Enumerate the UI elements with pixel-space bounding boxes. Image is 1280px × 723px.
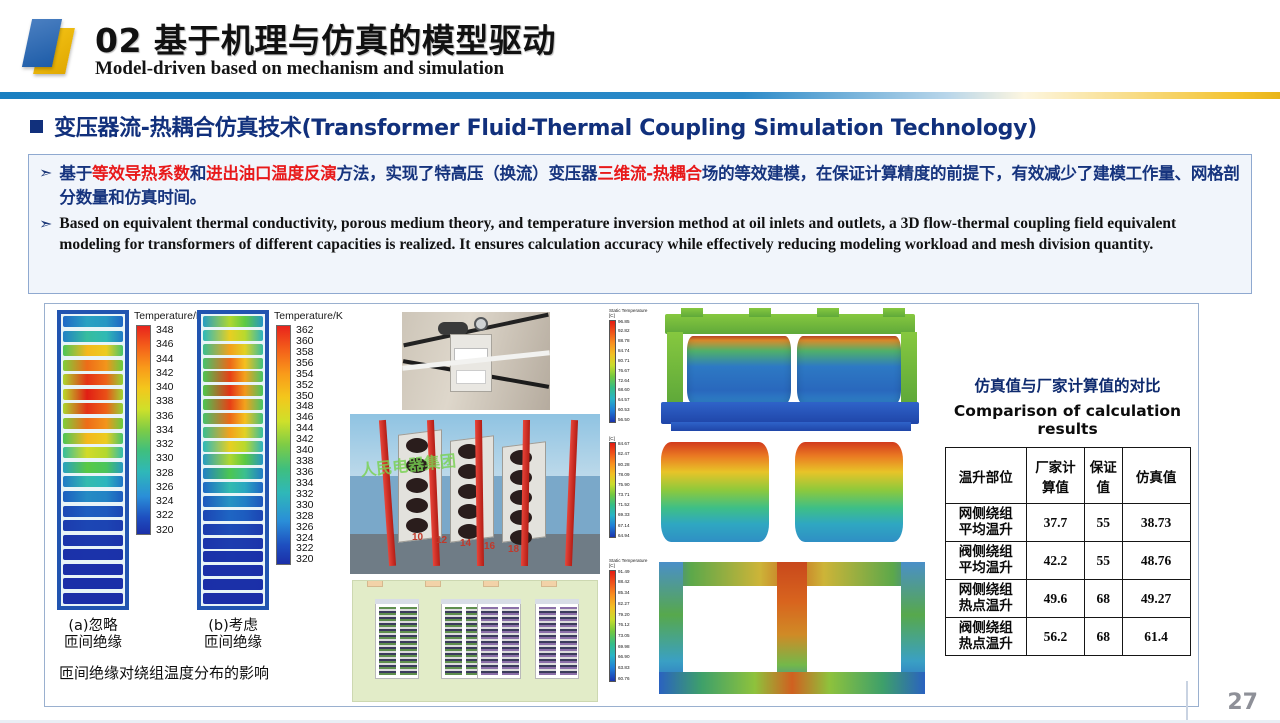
colorbar-b-gradient [276,325,291,565]
bay-rack [502,607,519,675]
winding-disc [203,441,263,452]
col-header-guarantee: 保证值 [1084,448,1122,504]
bay-rack [379,607,396,675]
winding-disc [63,564,123,575]
cfd-model-core [659,562,925,694]
comparison-table: 温升部位 厂家计算值 保证值 仿真值 网侧绕组平均温升37.75538.73阀侧… [945,447,1191,656]
cfd-colorbar-2-tick: 82.47 [618,452,630,457]
colorbar-a-tick: 320 [156,525,174,536]
cfd-colorbar-3-tick: 85.34 [618,591,630,596]
cell-guarantee-value: 55 [1084,504,1122,542]
winding-disc [63,389,123,400]
winding-disc [203,524,263,535]
colorbar-b-tick: 326 [296,522,314,533]
cfd-colorbar-2-body: 84.6782.4780.2878.0975.9073.7171.5269.33… [609,442,657,538]
winding-figure-a: Temperature/K 34834634434234033833633433… [57,310,129,610]
cfd-colorbar-3: Static Temperature [C] 91.4988.4285.3482… [609,558,657,682]
winding-disc [63,520,123,531]
winding-figure-b: Temperature/K 36236035835635435235034834… [197,310,269,610]
colorbar-b-tick: 344 [296,423,314,434]
cell-part-line2: 平均温升 [948,561,1025,577]
core-clamp-4 [883,308,905,317]
section-heading: 变压器流-热耦合仿真技术(Transformer Fluid-Thermal C… [30,110,1037,142]
winding-figure-pair: Temperature/K 34834634434234033833633433… [57,310,269,610]
measurement-point-label: 16 [484,541,495,552]
cfd-colorbar-1-tick: 84.74 [618,349,630,354]
colorbar-b-tick: 362 [296,325,314,336]
figure-a-caption: (a)忽略 匝间绝缘 [13,618,173,653]
core-yoke-top [665,314,915,334]
colorbar-b-tick: 354 [296,369,314,380]
cell-simulation-value: 49.27 [1122,580,1190,618]
colorbar-a-tick: 324 [156,496,174,507]
page-subtitle: Model-driven based on mechanism and simu… [95,58,504,80]
colorbar-a-tick: 328 [156,468,174,479]
colorbar-b-tick: 330 [296,500,314,511]
comparison-title-en: Comparison of calculation results [940,402,1195,438]
table-header-row: 温升部位 厂家计算值 保证值 仿真值 [945,448,1190,504]
winding-thermal-figures: Temperature/K 34834634434234033833633433… [57,310,357,700]
colorbar-b-tick: 352 [296,380,314,391]
cell-guarantee-value: 68 [1084,580,1122,618]
cell-part-line2: 平均温升 [948,523,1025,539]
winding-disc [63,578,123,589]
winding-disc [203,468,263,479]
cfd-colorbar-3-unit: [C] [609,563,657,568]
cfd-sim-core-frame: Static Temperature [C] 91.4988.4285.3482… [605,556,930,702]
cfd-colorbar-1-tick: 64.57 [618,398,630,403]
figure-b-caption-line2: 匝间绝缘 [153,635,313,652]
cell-part: 阀侧绕组平均温升 [945,542,1027,580]
bay-rack [560,607,577,675]
colorbar-a-tick: 322 [156,510,174,521]
bay-roof-tab [367,580,383,587]
winding-disc [203,454,263,465]
winding-contour-b [197,310,269,610]
winding-disc [63,549,123,560]
cfd-sim-assembly: Static Temperature [C] 96.8592.8288.7884… [605,306,930,436]
figure-b-caption-line1: (b)考虑 [153,618,313,635]
cell-part-line1: 网侧绕组 [948,507,1025,523]
winding-disc [203,399,263,410]
bay-rack [445,607,462,675]
bay-cap [535,599,579,604]
measurement-point-label: 12 [436,535,447,546]
winding-disc [203,385,263,396]
bay-rack [539,607,556,675]
winding-disc [203,496,263,507]
winding-disc [203,316,263,327]
radiator-fan-icon [406,518,428,533]
cell-simulation-value: 38.73 [1122,504,1190,542]
colorbar-a-ticks: 3483463443423403383363343323303283263243… [151,325,174,535]
colorbar-a-tick: 338 [156,396,174,407]
cfd-colorbar-3-tick: 91.49 [618,570,630,575]
table-row: 阀侧绕组热点温升56.26861.4 [945,618,1190,656]
photo-sensor-subplate [456,370,486,384]
photo-radiator-bank: 1012141618 人民电器集团 [350,414,600,574]
colorbar-b-tick: 350 [296,391,314,402]
winding-disc [203,565,263,576]
cn-seg-3: 方法，实现了特高压（换流）变压器 [337,164,598,183]
cfd-winding-right [795,442,903,542]
colorbar-a-tick: 334 [156,425,174,436]
photo-wireless-sensor [402,312,550,410]
bay-cap [375,599,419,604]
cfd-colorbar-1-unit: [C] [609,313,657,318]
col-header-part: 温升部位 [945,448,1027,504]
description-row-cn: ➣ 基于等效导热系数和进出油口温度反演方法，实现了特高压（换流）变压器三维流-热… [29,155,1251,211]
comparison-title-cn: 仿真值与厂家计算值的对比 [940,374,1195,396]
cfd-colorbar-3-tick: 63.83 [618,666,630,671]
cfd-colorbar-2-tick: 84.67 [618,442,630,447]
cell-part-line2: 热点温升 [948,599,1025,615]
cfd-model-transformer [657,310,925,432]
photo-column: 1012141618 人民电器集团 [350,308,600,704]
coil-left [687,336,791,404]
cfd-colorbar-2-tick: 78.09 [618,473,630,478]
cfd-colorbar-3-tick: 69.98 [618,645,630,650]
core-base-frame [661,402,919,424]
header-divider [0,92,1280,99]
page-number: 27 [1227,690,1258,715]
core-clamp-1 [681,308,703,317]
footer-divider [1186,681,1188,721]
cn-seg-1: 基于 [59,164,92,183]
cell-part-line2: 热点温升 [948,637,1025,653]
colorbar-b-tick: 346 [296,412,314,423]
measurement-point-label: 14 [460,538,471,549]
photo-sensor-knob-icon [474,317,488,331]
table-body: 网侧绕组平均温升37.75538.73阀侧绕组平均温升42.25548.76网侧… [945,504,1190,656]
colorbar-a-tick: 342 [156,368,174,379]
arrow-bullet-icon-2: ➣ [39,213,52,236]
colorbar-b-tick: 340 [296,445,314,456]
cn-seg-2: 和 [190,164,206,183]
winding-disc [203,330,263,341]
cfd-colorbar-2-tick: 71.52 [618,503,630,508]
core-clamp-3 [817,308,839,317]
cfd-colorbar-1-tick: 96.85 [618,320,630,325]
colorbar-b-ticks: 3623603583563543523503483463443423403383… [291,325,314,565]
winding-disc [63,506,123,517]
diagram-substation-layout [352,580,598,702]
colorbar-b-tick: 328 [296,511,314,522]
colorbar-b-tick: 320 [296,554,314,565]
cfd-colorbar-1-tick: 92.82 [618,329,630,334]
winding-disc [203,371,263,382]
cell-manufacturer-value: 42.2 [1027,542,1085,580]
cfd-colorbar-2-gradient [609,442,616,538]
cfd-colorbar-2-tick: 80.28 [618,463,630,468]
cfd-colorbar-2-tick: 64.94 [618,534,630,539]
winding-disc [63,462,123,473]
cell-part-line1: 网侧绕组 [948,583,1025,599]
cfd-colorbar-1-tick: 88.78 [618,339,630,344]
figures-footer-caption: 匝间绝缘对绕组温度分布的影响 [59,662,359,683]
colorbar-b-tick: 342 [296,434,314,445]
colorbar-b-tick: 336 [296,467,314,478]
cn-highlight-1: 等效导热系数 [92,164,190,183]
cfd-colorbar-1-ticks: 96.8592.8288.7884.7480.7176.6772.6468.60… [616,320,630,423]
winding-disc [63,403,123,414]
winding-disc [63,433,123,444]
colorbar-b-tick: 322 [296,543,314,554]
colorbar-b-tick: 332 [296,489,314,500]
colorbar-b-tick: 338 [296,456,314,467]
cfd-colorbar-1-tick: 76.67 [618,369,630,374]
cfd-colorbar-1-tick: 80.71 [618,359,630,364]
cfd-colorbar-3-tick: 82.27 [618,602,630,607]
cfd-colorbar-1: Static Temperature [C] 96.8592.8288.7884… [609,308,657,423]
content-panel: Temperature/K 34834634434234033833633433… [44,303,1199,707]
winding-contour-a [57,310,129,610]
cfd-colorbar-2-tick: 75.90 [618,483,630,488]
col-header-manufacturer: 厂家计算值 [1027,448,1085,504]
colorbar-a-tick: 326 [156,482,174,493]
colorbar-b-tick: 360 [296,336,314,347]
cfd-colorbar-1-tick: 68.60 [618,388,630,393]
cfd-colorbar-3-tick: 88.42 [618,580,630,585]
company-logo-icon [22,16,88,76]
cn-highlight-2: 进出油口温度反演 [206,164,336,183]
description-en-text: Based on equivalent thermal conductivity… [59,213,1241,256]
winding-disc [203,344,263,355]
cell-part: 网侧绕组热点温升 [945,580,1027,618]
winding-disc [203,358,263,369]
cfd-colorbar-1-gradient [609,320,616,423]
cfd-colorbar-2-tick: 73.71 [618,493,630,498]
colorbar-a-tick: 336 [156,411,174,422]
colorbar-b-tick: 358 [296,347,314,358]
bay-rack [481,607,498,675]
cell-part-line1: 阀侧绕组 [948,545,1025,561]
description-box: ➣ 基于等效导热系数和进出油口温度反演方法，实现了特高压（换流）变压器三维流-热… [28,154,1252,294]
core-base-plinth [671,422,911,431]
cell-manufacturer-value: 49.6 [1027,580,1085,618]
winding-disc [63,345,123,356]
cfd-colorbar-1-tick: 56.50 [618,418,630,423]
description-cn-text: 基于等效导热系数和进出油口温度反演方法，实现了特高压（换流）变压器三维流-热耦合… [59,162,1241,211]
winding-disc [203,551,263,562]
cfd-colorbar-2-tick: 67.14 [618,524,630,529]
cn-highlight-3: 三维流-热耦合 [597,164,701,183]
colorbar-a-tick: 346 [156,339,174,350]
cfd-colorbar-3-ticks: 91.4988.4285.3482.2779.2076.1273.0569.98… [616,570,630,682]
radiator-fan-icon [406,498,428,513]
cfd-colorbar-3-tick: 60.76 [618,677,630,682]
winding-disc [63,447,123,458]
measurement-point-label: 18 [508,544,519,555]
table-row: 网侧绕组热点温升49.66849.27 [945,580,1190,618]
cell-guarantee-value: 68 [1084,618,1122,656]
bullet-square-icon [30,120,43,133]
winding-disc [203,413,263,424]
coil-right [797,336,901,404]
cfd-colorbar-3-gradient [609,570,616,682]
winding-disc [63,331,123,342]
bay-rack [400,607,417,675]
section-heading-label: 变压器流-热耦合仿真技术(Transformer Fluid-Thermal C… [54,110,1037,142]
cell-simulation-value: 48.76 [1122,542,1190,580]
cfd-colorbar-1-tick: 60.53 [618,408,630,413]
measurement-point-label: 10 [412,532,423,543]
cfd-colorbar-3-tick: 76.12 [618,623,630,628]
cfd-colorbar-2-unit: [C] [609,436,657,441]
cell-part: 阀侧绕组热点温升 [945,618,1027,656]
cell-part-line1: 阀侧绕组 [948,621,1025,637]
colorbar-a-tick: 330 [156,453,174,464]
winding-disc [63,476,123,487]
cfd-colorbar-2: [C] 84.6782.4780.2878.0975.9073.7171.526… [609,436,657,538]
radiator-fan-icon [406,478,428,493]
cfd-winding-left [661,442,769,542]
colorbar-a-tick: 332 [156,439,174,450]
cell-simulation-value: 61.4 [1122,618,1190,656]
colorbar-b-tick: 324 [296,533,314,544]
winding-disc [63,535,123,546]
table-row: 网侧绕组平均温升37.75538.73 [945,504,1190,542]
cfd-colorbar-3-tick: 79.20 [618,613,630,618]
winding-disc [203,593,263,604]
colorbar-a-tick: 348 [156,325,174,336]
colorbar-b-tick: 334 [296,478,314,489]
winding-disc [63,316,123,327]
slide-header: 02 基于机理与仿真的模型驱动 Model-driven based on me… [0,0,1280,92]
core-clamp-2 [749,308,771,317]
table-row: 阀侧绕组平均温升42.25548.76 [945,542,1190,580]
cell-part: 网侧绕组平均温升 [945,504,1027,542]
winding-disc [203,510,263,521]
colorbar-a-gradient [136,325,151,535]
cfd-sim-windings: [C] 84.6782.4780.2878.0975.9073.7171.526… [605,434,930,558]
bay-roof-tab [483,580,499,587]
col-header-simulation: 仿真值 [1122,448,1190,504]
core-bottom-yoke [659,672,925,694]
cfd-colorbar-1-tick: 72.64 [618,379,630,384]
winding-disc [63,374,123,385]
bay-roof-tab [541,580,557,587]
winding-disc [203,579,263,590]
page-title: 02 基于机理与仿真的模型驱动 [95,14,556,62]
cfd-colorbar-2-tick: 69.33 [618,513,630,518]
winding-disc [203,427,263,438]
core-limb-left [667,332,683,402]
bay-cap [477,599,521,604]
figure-b-caption: (b)考虑 匝间绝缘 [153,618,313,653]
winding-disc [63,491,123,502]
winding-disc [63,360,123,371]
cell-manufacturer-value: 37.7 [1027,504,1085,542]
winding-disc [63,593,123,604]
cell-manufacturer-value: 56.2 [1027,618,1085,656]
winding-disc [63,418,123,429]
cfd-colorbar-3-body: 91.4988.4285.3482.2779.2076.1273.0569.98… [609,570,657,682]
figure-a-caption-line1: (a)忽略 [13,618,173,635]
cfd-colorbar-3-tick: 66.90 [618,655,630,660]
cfd-colorbar-1-body: 96.8592.8288.7884.7480.7176.6772.6468.60… [609,320,657,423]
cell-guarantee-value: 55 [1084,542,1122,580]
slide-root: 02 基于机理与仿真的模型驱动 Model-driven based on me… [0,0,1280,723]
figure-a-caption-line2: 匝间绝缘 [13,635,173,652]
bay-roof-tab [425,580,441,587]
header-divider-thin [0,99,1280,101]
colorbar-a-tick: 340 [156,382,174,393]
colorbar-a-tick: 344 [156,354,174,365]
cfd-simulation-column: Static Temperature [C] 96.8592.8288.7884… [605,306,930,704]
colorbar-b-tick: 348 [296,401,314,412]
cfd-colorbar-3-tick: 73.05 [618,634,630,639]
colorbar-b-tick: 356 [296,358,314,369]
winding-disc [203,538,263,549]
description-row-en: ➣ Based on equivalent thermal conductivi… [29,211,1251,256]
comparison-table-block: 仿真值与厂家计算值的对比 Comparison of calculation r… [940,308,1195,700]
cfd-colorbar-2-ticks: 84.6782.4780.2878.0975.9073.7171.5269.33… [616,442,630,538]
core-limb-right [901,332,917,402]
winding-disc [203,482,263,493]
arrow-bullet-icon: ➣ [39,162,52,185]
